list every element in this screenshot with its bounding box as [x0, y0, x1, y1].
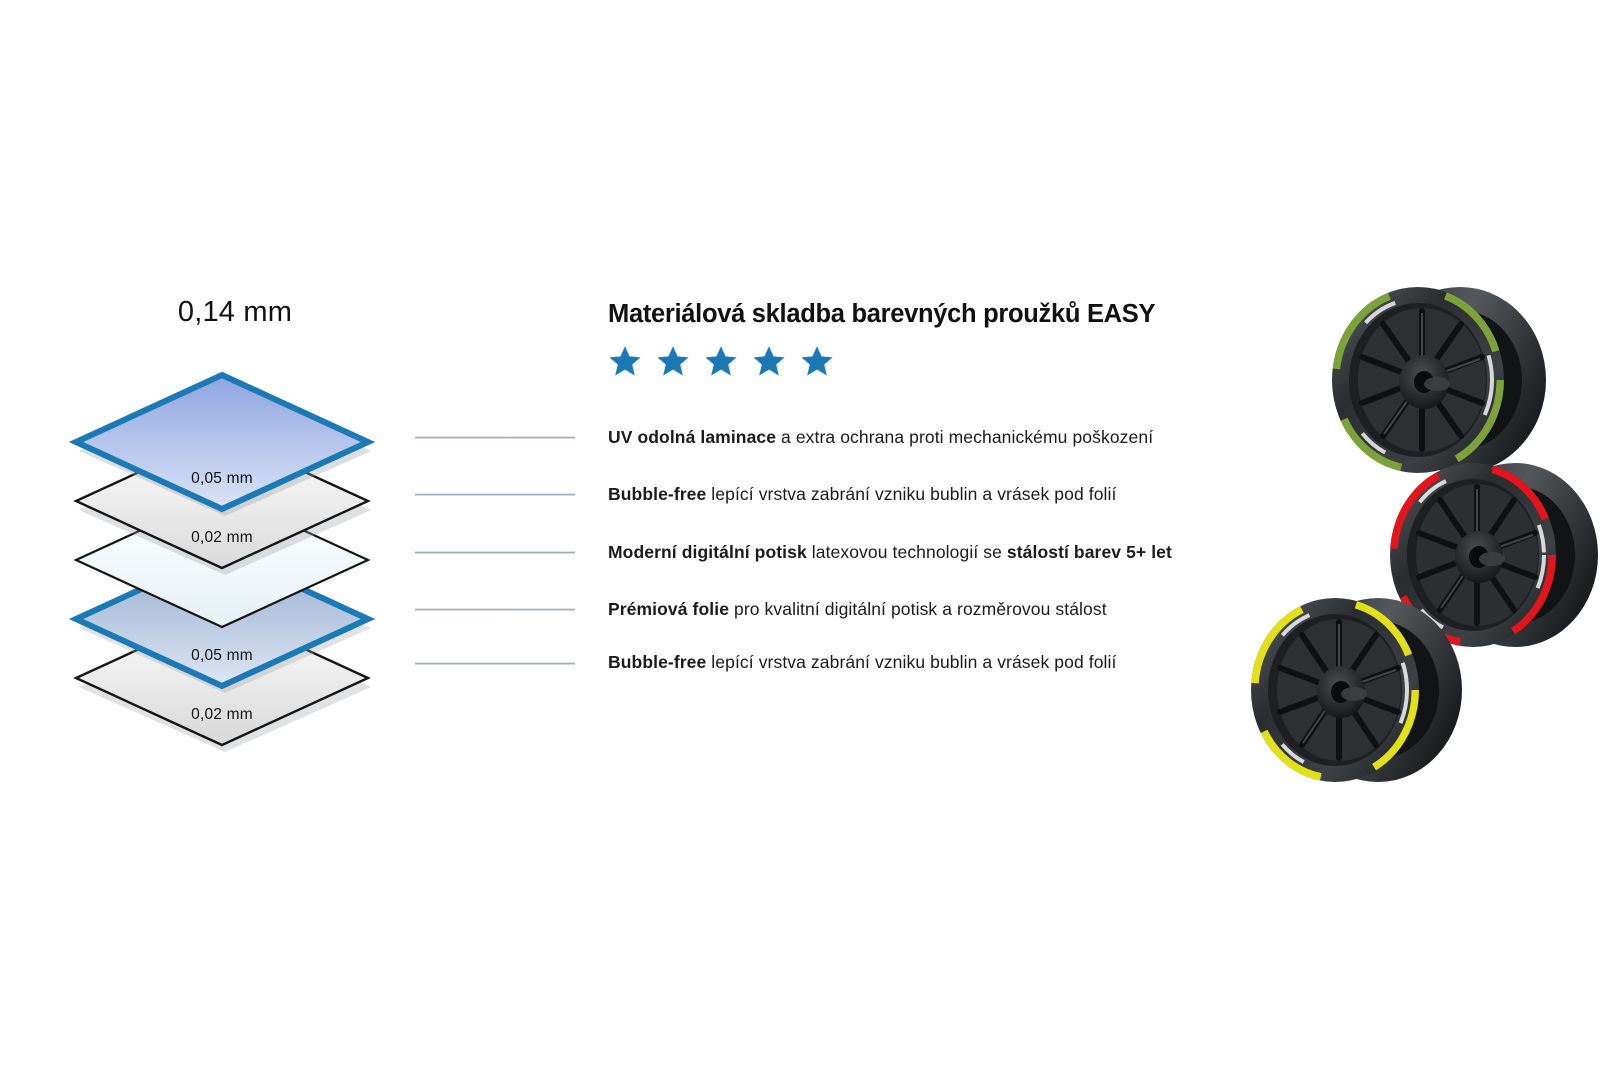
feature-2-rest: lepící vrstva zabrání vzniku bublin a vr…: [706, 484, 1116, 504]
material-layer-diagram: 0,14 mm 0,05 mm: [60, 296, 410, 746]
connector-line-5: [415, 662, 575, 665]
feature-5-rest: lepící vrstva zabrání vzniku bublin a vr…: [706, 652, 1116, 672]
star-icon: [800, 344, 834, 378]
connector-line-2: [415, 493, 575, 496]
star-icon: [656, 344, 690, 378]
feature-4-strong: Prémiová folie: [608, 599, 729, 619]
layer-laminate-blue: 0,05 mm: [72, 369, 372, 515]
feature-3-rest: latexovou technologií se: [807, 542, 1007, 562]
wheel-green-image: [1300, 285, 1580, 475]
layer-thickness-5: 0,02 mm: [72, 706, 372, 724]
feature-line-2: Bubble-free lepící vrstva zabrání vzniku…: [608, 484, 1117, 505]
wheel-green: [1300, 285, 1580, 475]
feature-5-strong: Bubble-free: [608, 652, 706, 672]
rating-stars: [608, 344, 1328, 378]
layer-shape-1: [72, 369, 372, 515]
feature-line-3: Moderní digitální potisk latexovou techn…: [608, 542, 1172, 563]
feature-3-strong: Moderní digitální potisk: [608, 542, 807, 562]
feature-line-4: Prémiová folie pro kvalitní digitální po…: [608, 599, 1107, 620]
wheel-yellow-image: [1235, 592, 1485, 792]
feature-4-rest: pro kvalitní digitální potisk a rozměrov…: [729, 599, 1107, 619]
header-block: Materiálová skladba barevných proužků EA…: [608, 300, 1328, 378]
star-icon: [752, 344, 786, 378]
layer-thickness-2: 0,02 mm: [72, 529, 372, 547]
star-icon: [704, 344, 738, 378]
connector-line-3: [415, 551, 575, 554]
feature-line-1: UV odolná laminace a extra ochrana proti…: [608, 427, 1153, 448]
connector-line-4: [415, 608, 575, 611]
page-title: Materiálová skladba barevných proužků EA…: [608, 300, 1328, 328]
total-thickness-label: 0,14 mm: [60, 296, 410, 329]
infographic-canvas: 0,14 mm 0,05 mm: [0, 0, 1600, 1080]
layer-thickness-4: 0,05 mm: [72, 647, 372, 665]
feature-3-strong-2: stálostí barev 5+ let: [1007, 542, 1172, 562]
feature-1-strong: UV odolná laminace: [608, 427, 776, 447]
feature-line-5: Bubble-free lepící vrstva zabrání vzniku…: [608, 652, 1117, 673]
wheel-yellow: [1235, 592, 1485, 792]
layer-thickness-1: 0,05 mm: [72, 470, 372, 488]
connector-line-1: [415, 436, 575, 439]
feature-2-strong: Bubble-free: [608, 484, 706, 504]
feature-1-rest: a extra ochrana proti mechanickému poško…: [776, 427, 1153, 447]
star-icon: [608, 344, 642, 378]
